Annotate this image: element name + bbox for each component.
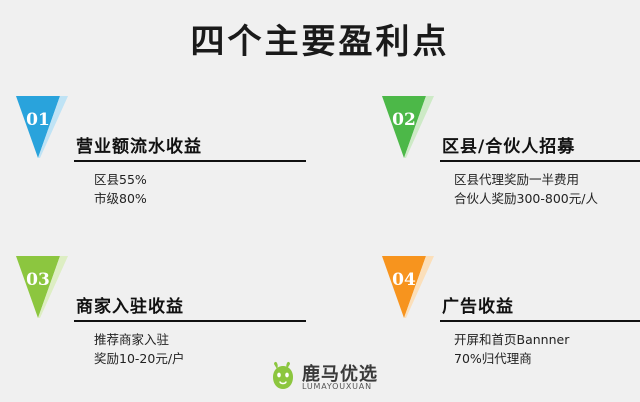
heading-underline: [440, 160, 640, 162]
item-desc-line1: 开屏和首页Bannner: [454, 330, 569, 349]
profit-point-item: 01 营业额流水收益 区县55% 市级80%: [16, 96, 306, 226]
heading-underline: [74, 160, 306, 162]
number-badge-icon: 04: [382, 256, 434, 318]
item-heading: 区县/合伙人招募: [442, 132, 575, 157]
number-badge-icon: 01: [16, 96, 68, 158]
item-number: 01: [16, 110, 60, 130]
item-heading: 商家入驻收益: [76, 292, 184, 317]
item-desc-line2: 奖励10-20元/户: [94, 349, 185, 368]
item-desc-line1: 区县55%: [94, 170, 147, 189]
number-badge-icon: 03: [16, 256, 68, 318]
item-desc-line2: 70%归代理商: [454, 349, 532, 368]
item-number: 02: [382, 110, 426, 130]
profit-point-item: 03 商家入驻收益 推荐商家入驻 奖励10-20元/户: [16, 256, 306, 386]
item-heading: 广告收益: [442, 292, 514, 317]
deer-logo-icon: [266, 360, 300, 392]
item-desc-line2: 市级80%: [94, 189, 147, 208]
heading-underline: [440, 320, 640, 322]
profit-point-item: 04 广告收益 开屏和首页Bannner 70%归代理商: [382, 256, 640, 386]
item-heading: 营业额流水收益: [76, 132, 202, 157]
brand-logo: 鹿马优选 LUMAYOUXUAN: [266, 360, 376, 396]
item-number: 04: [382, 270, 426, 290]
item-desc-line1: 区县代理奖励一半费用: [454, 170, 579, 189]
item-number: 03: [16, 270, 60, 290]
logo-name-en: LUMAYOUXUAN: [302, 382, 372, 391]
number-badge-icon: 02: [382, 96, 434, 158]
poster-root: 四个主要盈利点 01 营业额流水收益 区县55% 市级80% 02 区县/合伙人…: [0, 0, 640, 402]
item-desc-line1: 推荐商家入驻: [94, 330, 169, 349]
heading-underline: [74, 320, 306, 322]
profit-point-item: 02 区县/合伙人招募 区县代理奖励一半费用 合伙人奖励300-800元/人: [382, 96, 640, 226]
page-title: 四个主要盈利点: [0, 14, 640, 63]
item-desc-line2: 合伙人奖励300-800元/人: [454, 189, 598, 208]
